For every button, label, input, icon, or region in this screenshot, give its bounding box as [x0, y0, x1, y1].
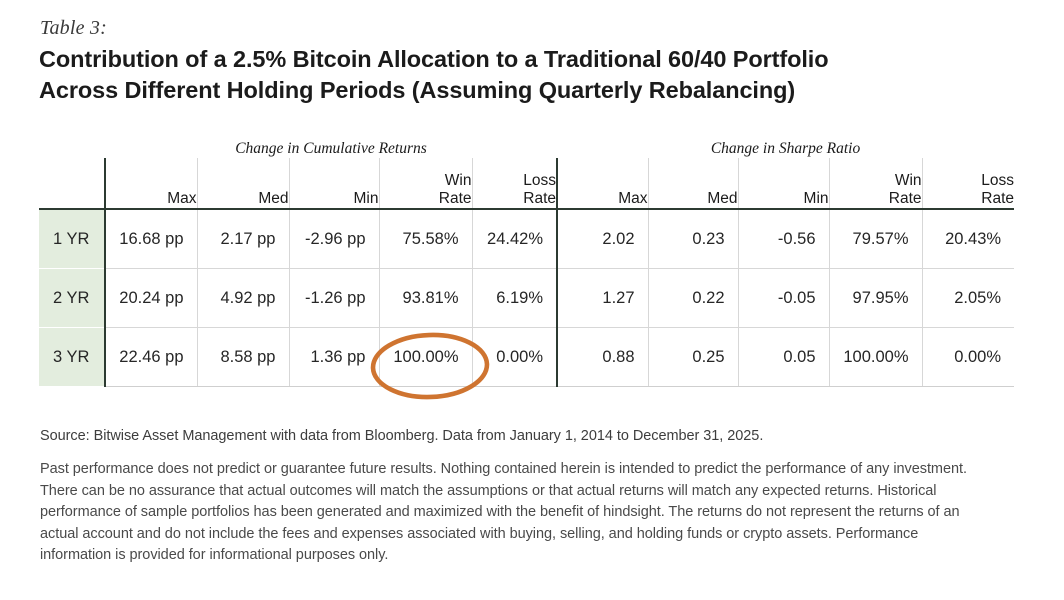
cell-2yr-cr-max: 20.24 pp [105, 269, 197, 328]
column-header-sr-loss-rate: Loss Rate [922, 158, 1014, 208]
cell-3yr-sr-min: 0.05 [738, 328, 829, 387]
cell-2yr-sr-min: -0.05 [738, 269, 829, 328]
cell-2yr-cr-med: 4.92 pp [197, 269, 289, 328]
cell-1yr-cr-min: -2.96 pp [289, 209, 379, 269]
table-figure: Table 3: Contribution of a 2.5% Bitcoin … [0, 0, 1064, 600]
column-header-sr-med-bottom: Med [649, 190, 738, 208]
table-row: 3 YR 22.46 pp 8.58 pp 1.36 pp 100.00% 0.… [39, 328, 1014, 387]
group-header-cumulative-returns: Change in Cumulative Returns [105, 134, 557, 158]
column-header-row-label [39, 158, 105, 208]
cell-3yr-cr-win-rate: 100.00% [379, 328, 472, 387]
cell-3yr-cr-med: 8.58 pp [197, 328, 289, 387]
column-header-cr-loss-rate-top: Loss [473, 172, 557, 190]
column-header-row: Max Med Min Win Rate Loss [39, 158, 1014, 208]
group-header-spacer [39, 134, 105, 158]
group-header-row: Change in Cumulative Returns Change in S… [39, 134, 1014, 158]
cell-1yr-sr-med: 0.23 [648, 209, 738, 269]
column-header-sr-loss-rate-top: Loss [923, 172, 1015, 190]
cell-3yr-cr-loss-rate: 0.00% [472, 328, 557, 387]
cell-3yr-sr-med: 0.25 [648, 328, 738, 387]
cell-1yr-cr-win-rate: 75.58% [379, 209, 472, 269]
cell-2yr-sr-loss-rate: 2.05% [922, 269, 1014, 328]
cell-3yr-cr-min: 1.36 pp [289, 328, 379, 387]
cell-2yr-sr-win-rate: 97.95% [829, 269, 922, 328]
column-header-sr-med: Med [648, 158, 738, 208]
column-header-cr-max-bottom: Max [106, 190, 197, 208]
column-header-sr-min: Min [738, 158, 829, 208]
column-header-cr-med-bottom: Med [198, 190, 289, 208]
cell-1yr-cr-loss-rate: 24.42% [472, 209, 557, 269]
table-row: 2 YR 20.24 pp 4.92 pp -1.26 pp 93.81% 6.… [39, 269, 1014, 328]
column-header-cr-max: Max [105, 158, 197, 208]
cell-1yr-sr-loss-rate: 20.43% [922, 209, 1014, 269]
cell-3yr-sr-max: 0.88 [557, 328, 648, 387]
column-header-sr-win-rate: Win Rate [829, 158, 922, 208]
table-number-label: Table 3: [40, 17, 107, 40]
cell-1yr-sr-min: -0.56 [738, 209, 829, 269]
title-line-2: Across Different Holding Periods (Assumi… [39, 75, 979, 106]
data-table: Change in Cumulative Returns Change in S… [39, 134, 1014, 387]
disclaimer-note: Past performance does not predict or gua… [40, 459, 990, 567]
cell-1yr-sr-max: 2.02 [557, 209, 648, 269]
column-header-sr-max-bottom: Max [558, 190, 648, 208]
table-body: 1 YR 16.68 pp 2.17 pp -2.96 pp 75.58% 24… [39, 209, 1014, 387]
cell-2yr-cr-min: -1.26 pp [289, 269, 379, 328]
cell-2yr-sr-med: 0.22 [648, 269, 738, 328]
cell-2yr-cr-win-rate: 93.81% [379, 269, 472, 328]
cell-2yr-cr-loss-rate: 6.19% [472, 269, 557, 328]
cell-2yr-sr-max: 1.27 [557, 269, 648, 328]
column-header-cr-loss-rate: Loss Rate [472, 158, 557, 208]
title-line-1: Contribution of a 2.5% Bitcoin Allocatio… [39, 46, 828, 72]
column-header-sr-win-rate-bottom: Rate [830, 190, 922, 208]
row-label-2yr: 2 YR [39, 269, 105, 328]
row-label-3yr: 3 YR [39, 328, 105, 387]
column-header-sr-min-bottom: Min [739, 190, 829, 208]
column-header-sr-max: Max [557, 158, 648, 208]
column-header-cr-med: Med [197, 158, 289, 208]
data-table-container: Change in Cumulative Returns Change in S… [39, 134, 1014, 387]
cell-1yr-sr-win-rate: 79.57% [829, 209, 922, 269]
column-header-cr-win-rate-bottom: Rate [380, 190, 472, 208]
table-row: 1 YR 16.68 pp 2.17 pp -2.96 pp 75.58% 24… [39, 209, 1014, 269]
column-header-cr-win-rate-top: Win [380, 172, 472, 190]
source-note: Source: Bitwise Asset Management with da… [40, 428, 763, 444]
cell-1yr-cr-max: 16.68 pp [105, 209, 197, 269]
column-header-sr-win-rate-top: Win [830, 172, 922, 190]
page-title: Contribution of a 2.5% Bitcoin Allocatio… [39, 44, 979, 106]
column-header-cr-win-rate: Win Rate [379, 158, 472, 208]
cell-1yr-cr-med: 2.17 pp [197, 209, 289, 269]
cell-3yr-sr-win-rate: 100.00% [829, 328, 922, 387]
cell-3yr-sr-loss-rate: 0.00% [922, 328, 1014, 387]
column-header-cr-loss-rate-bottom: Rate [473, 190, 557, 208]
column-header-cr-min-bottom: Min [290, 190, 379, 208]
row-label-1yr: 1 YR [39, 209, 105, 269]
cell-3yr-cr-max: 22.46 pp [105, 328, 197, 387]
column-header-sr-loss-rate-bottom: Rate [923, 190, 1015, 208]
group-header-sharpe-ratio: Change in Sharpe Ratio [557, 134, 1014, 158]
column-header-cr-min: Min [289, 158, 379, 208]
